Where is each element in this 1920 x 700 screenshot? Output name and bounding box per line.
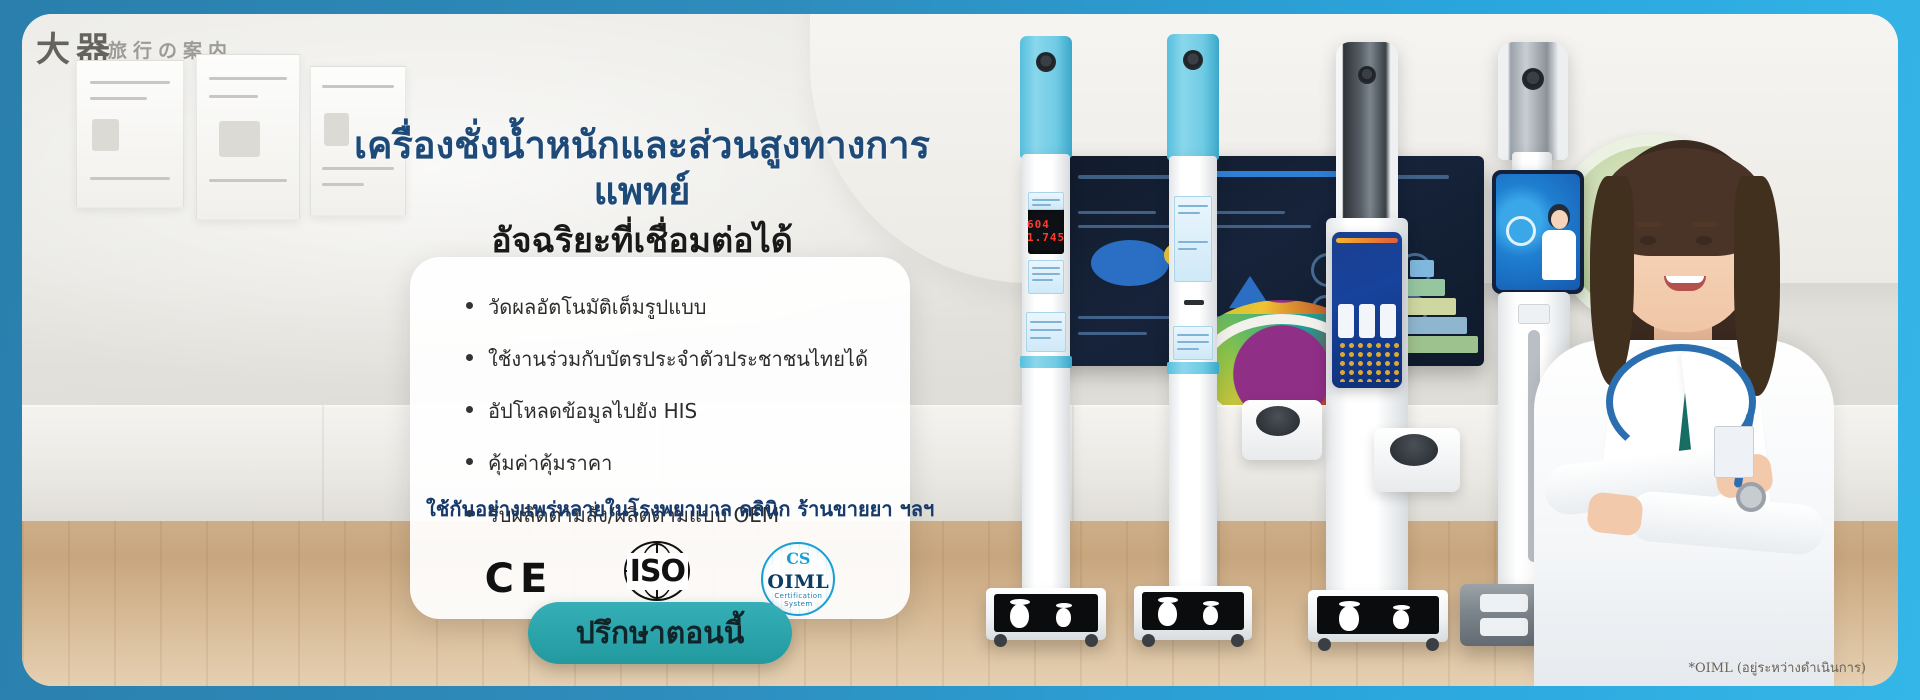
- blood-pressure-cuff: [1374, 428, 1460, 492]
- device-1-foot-pad: [994, 594, 1098, 632]
- device-2-coin-slot: [1184, 300, 1204, 305]
- headline-line-1: เครื่องชั่งน้ำหนักและส่วนสูงทางการแพทย์: [322, 122, 962, 215]
- list-item: ใช้งานร่วมกับบัตรประจำตัวประชาชนไทยได้: [462, 343, 886, 375]
- cuff-arm-opening: [1256, 406, 1300, 436]
- screen-option-card[interactable]: [1338, 304, 1355, 338]
- doctor-hair-right: [1734, 176, 1780, 396]
- device-2-caster: [1231, 634, 1244, 647]
- footprint-toes: [1393, 605, 1410, 610]
- iso-globe-icon: ISO: [615, 540, 699, 602]
- device-1-instruction-sticker: [1028, 260, 1064, 294]
- doctor-eyebrow-left: [1636, 222, 1662, 227]
- counter-seam: [322, 405, 324, 523]
- device-1-caster: [994, 634, 1007, 647]
- device-1-lower-sticker: [1026, 312, 1066, 352]
- list-item: คุ้มค่าคุ้มราคา: [462, 447, 886, 479]
- ultrasonic-sensor-icon: [1183, 50, 1203, 70]
- doctor-hand-right: [1586, 491, 1644, 536]
- footprint-icon: [1056, 608, 1071, 627]
- ultrasonic-sensor-icon: [1036, 52, 1056, 72]
- wall-poster-2: [196, 54, 300, 220]
- oiml-cs-label: CS: [763, 549, 833, 568]
- doctor-id-badge: [1714, 426, 1754, 478]
- doctor-teeth: [1666, 276, 1704, 283]
- ultrasonic-sensor-icon: [1522, 68, 1544, 90]
- device-2-foot-pad: [1142, 592, 1244, 630]
- doctor-eyebrow-right: [1692, 222, 1718, 227]
- device-3-caster: [1426, 638, 1439, 651]
- ce-mark-icon: CE: [485, 556, 554, 602]
- features-card: วัดผลอัตโนมัติเต็มรูปแบบ ใช้งานร่วมกับบั…: [410, 257, 910, 619]
- device-2-lower-sticker: [1173, 326, 1213, 360]
- device-ultrasonic-scale-1: 604 1.745: [986, 36, 1106, 646]
- screen-option-card[interactable]: [1380, 304, 1397, 338]
- list-item: อัปโหลดข้อมูลไปยัง HIS: [462, 395, 886, 427]
- device-2-cyan-collar: [1167, 362, 1219, 374]
- headline-line-2: อัจฉริยะที่เชื่อมต่อได้: [322, 221, 962, 262]
- footprint-toes: [1203, 601, 1219, 606]
- ultrasonic-sensor-icon: [1358, 66, 1376, 84]
- screen-accent-bar: [1336, 238, 1398, 243]
- footprint-icon: [1393, 610, 1409, 629]
- usage-tagline: ใช้กันอย่างแพร่หลายในโรงพยาบาล คลินิก ร้…: [426, 493, 894, 525]
- screen-dot-pattern: [1338, 341, 1400, 382]
- led-value-weight: 604 1.745: [1027, 218, 1065, 244]
- device-1-caster: [1085, 634, 1098, 647]
- cuff-arm-opening: [1390, 434, 1438, 466]
- oiml-label: OIML: [767, 571, 829, 593]
- consult-now-button[interactable]: ปรึกษาตอนนี้: [528, 602, 792, 664]
- footprint-toes: [1339, 601, 1360, 607]
- doctor-hair-left: [1590, 176, 1634, 386]
- footprint-toes: [1056, 603, 1072, 608]
- iso-label: ISO: [627, 553, 688, 590]
- doctor-photo: [1478, 126, 1898, 686]
- device-3-caster: [1318, 638, 1331, 651]
- footprint-icon: [1158, 602, 1177, 626]
- doctor-eye-right: [1696, 236, 1712, 245]
- footprint-icon: [1010, 604, 1029, 628]
- footprint-toes: [1158, 597, 1178, 603]
- device-2-caster: [1142, 634, 1155, 647]
- blood-pressure-cuff: [1242, 400, 1322, 460]
- device-1-cyan-collar: [1020, 356, 1072, 368]
- screen-option-card[interactable]: [1359, 304, 1376, 338]
- footprint-icon: [1339, 606, 1359, 631]
- device-3-touchscreen[interactable]: [1332, 232, 1402, 388]
- device-1-led-display: 604 1.745: [1028, 208, 1064, 254]
- stethoscope-bell-icon: [1736, 482, 1766, 512]
- oiml-footnote: *OIML (อยู่ระหว่างดำเนินการ): [1688, 657, 1866, 678]
- device-kiosk-scale-3: [1308, 42, 1448, 646]
- device-ultrasonic-scale-2: [1134, 34, 1252, 646]
- doctor-eye-left: [1640, 236, 1656, 245]
- ce-badge: CE: [485, 556, 554, 602]
- device-2-info-sticker: [1174, 196, 1212, 282]
- footprint-toes: [1010, 599, 1030, 605]
- device-3-foot-pad: [1317, 596, 1439, 634]
- promo-banner: 大器 旅行の案内: [0, 0, 1920, 700]
- banner-stage: 大器 旅行の案内: [22, 14, 1898, 686]
- list-item: วัดผลอัตโนมัติเต็มรูปแบบ: [462, 291, 886, 323]
- footprint-icon: [1203, 606, 1218, 625]
- wall-poster-1: [76, 60, 184, 208]
- page-title: เครื่องชั่งน้ำหนักและส่วนสูงทางการแพทย์ …: [322, 122, 962, 262]
- device-1-label-sticker: [1028, 192, 1064, 210]
